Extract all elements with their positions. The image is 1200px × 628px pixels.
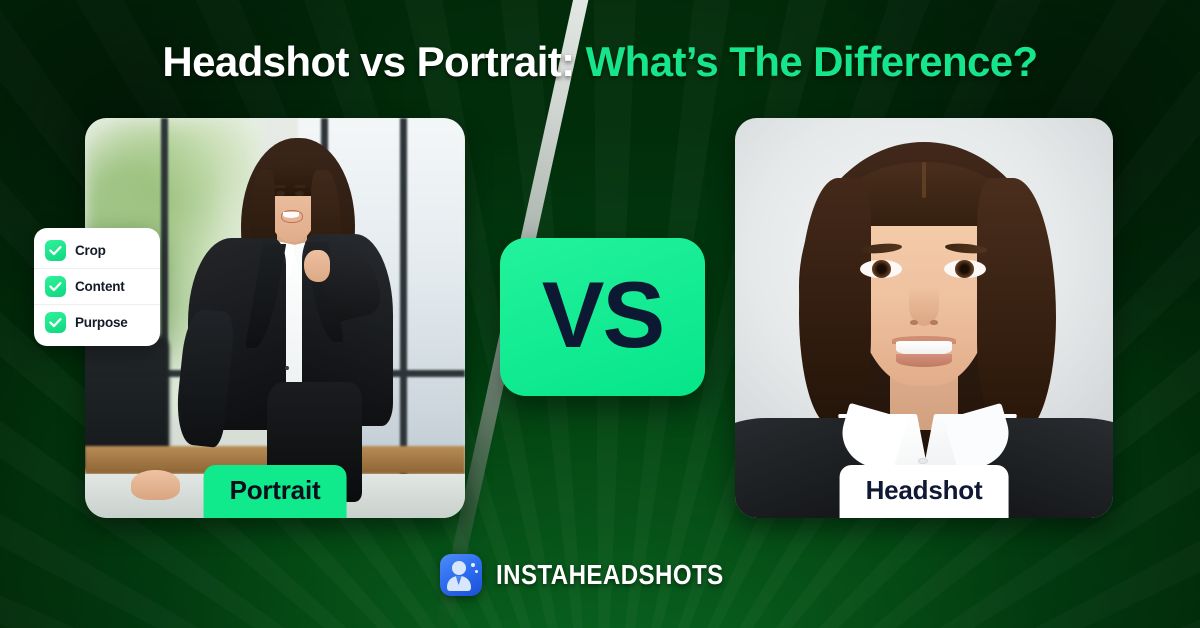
- brand-wordmark: INSTAHEADSHOTS: [496, 559, 724, 591]
- footer-brand[interactable]: INSTAHEADSHOTS: [0, 554, 1200, 596]
- checklist-item[interactable]: Content: [34, 269, 160, 305]
- person-avatar-icon: [440, 554, 482, 596]
- title-white-part: Headshot vs Portrait:: [162, 38, 574, 85]
- headshot-nostril-right: [930, 320, 938, 324]
- checklist-item-label: Purpose: [75, 315, 128, 330]
- headshot-hair-part: [922, 162, 927, 198]
- portrait-raised-hand: [304, 250, 331, 282]
- infographic-canvas: Headshot vs Portrait: What’s The Differe…: [0, 0, 1200, 628]
- check-icon[interactable]: [45, 276, 66, 297]
- headshot-iris-left: [872, 260, 891, 278]
- headshot-label-badge: Headshot: [840, 465, 1009, 518]
- title-green-part: What’s The Difference?: [586, 38, 1038, 85]
- criteria-checklist-card[interactable]: Crop Content Purpose: [34, 228, 160, 346]
- checklist-item[interactable]: Purpose: [34, 305, 160, 340]
- headshot-lower-lip: [896, 354, 953, 367]
- checklist-item-label: Content: [75, 279, 125, 294]
- headshot-photo-card[interactable]: Headshot: [735, 118, 1113, 518]
- vs-badge: VS: [500, 238, 705, 396]
- page-title: Headshot vs Portrait: What’s The Differe…: [0, 38, 1200, 85]
- checklist-item-label: Crop: [75, 243, 106, 258]
- portrait-label-badge: Portrait: [204, 465, 347, 518]
- headshot-hair-side-left: [799, 178, 871, 426]
- headshot-nostril-left: [910, 320, 918, 324]
- checklist-item[interactable]: Crop: [34, 233, 160, 269]
- check-icon[interactable]: [45, 240, 66, 261]
- vs-label: VS: [542, 268, 663, 362]
- headshot-photo: [735, 118, 1113, 518]
- portrait-blazer-button: [285, 366, 289, 370]
- check-icon[interactable]: [45, 312, 66, 333]
- headshot-iris-right: [955, 260, 974, 278]
- portrait-resting-hand: [131, 470, 180, 500]
